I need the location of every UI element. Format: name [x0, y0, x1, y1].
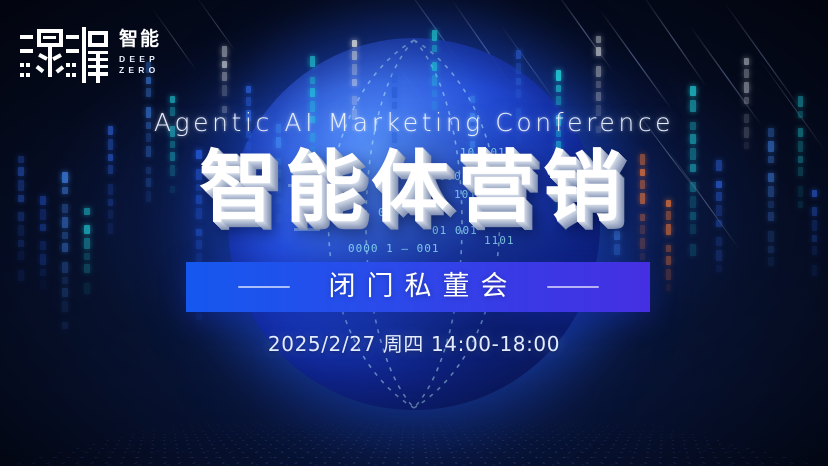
logo-chinese-name: 智能: [119, 29, 161, 50]
main-headline: 智能体营销: [0, 142, 828, 234]
poster-content: 智能 DEEP ZERO Agentic AI Marketing Confer…: [0, 0, 828, 466]
shenyan-logo-mark-icon: [18, 27, 110, 83]
conference-poster: 01 000 1011 0000 01 001 0000 1 — 001 0 0…: [0, 0, 828, 466]
brand-logo[interactable]: 智能 DEEP ZERO: [18, 27, 161, 83]
conference-eyebrow-title: Agentic AI Marketing Conference: [0, 108, 828, 138]
logo-english-name: DEEP ZERO: [119, 54, 159, 76]
event-datetime: 2025/2/27 周四 14:00-18:00: [0, 331, 828, 357]
logo-en-line1: DEEP: [119, 54, 159, 65]
logo-text-block: 智能 DEEP ZERO: [119, 27, 161, 76]
logo-en-line2: ZERO: [119, 65, 159, 76]
subtitle-ribbon: 闭门私董会: [186, 262, 650, 312]
ribbon-subtitle-text: 闭门私董会: [318, 272, 519, 302]
ribbon-dash-left-icon: [238, 286, 290, 288]
ribbon-dash-right-icon: [547, 286, 599, 288]
